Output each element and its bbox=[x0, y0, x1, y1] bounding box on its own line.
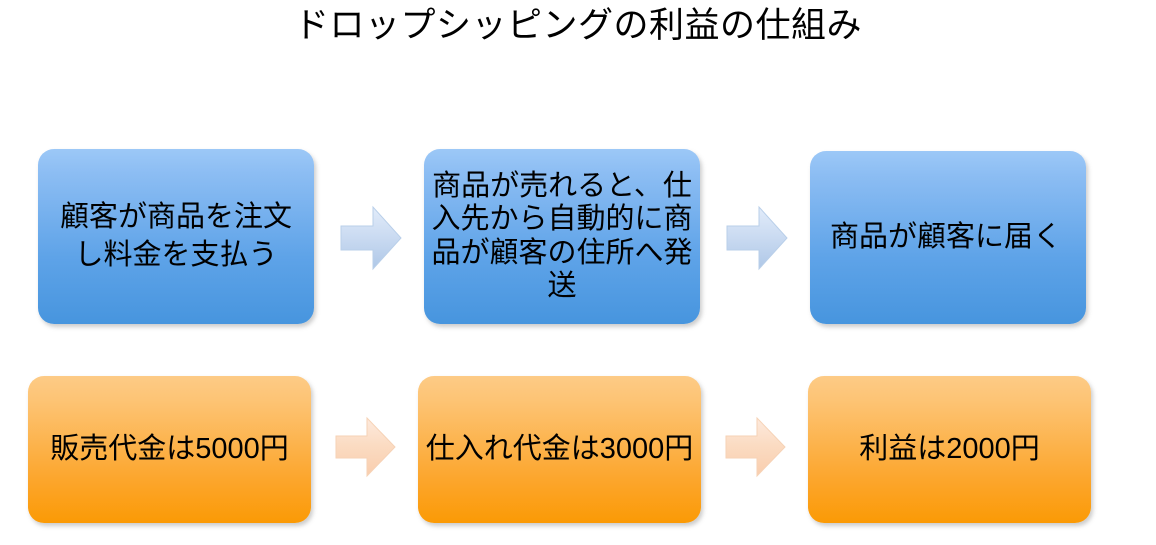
amount-1-label: 販売代金は5000円 bbox=[28, 431, 311, 469]
process-step-1-label: 顧客が商品を注文し料金を支払う bbox=[38, 199, 314, 274]
process-step-box-1[interactable]: 顧客が商品を注文し料金を支払う bbox=[38, 149, 314, 324]
amount-3-label: 利益は2000円 bbox=[808, 431, 1091, 469]
arrow-right-icon-3 bbox=[335, 416, 397, 478]
process-step-3-label: 商品が顧客に届く bbox=[810, 219, 1086, 257]
process-step-box-2[interactable]: 商品が売れると、仕入先から自動的に商品が顧客の住所へ発送 bbox=[424, 149, 700, 324]
amount-box-1[interactable]: 販売代金は5000円 bbox=[28, 376, 311, 523]
arrow-right-icon-4 bbox=[725, 416, 787, 478]
process-step-box-3[interactable]: 商品が顧客に届く bbox=[810, 151, 1086, 324]
process-step-2-label: 商品が売れると、仕入先から自動的に商品が顧客の住所へ発送 bbox=[424, 170, 700, 302]
amount-box-3[interactable]: 利益は2000円 bbox=[808, 376, 1091, 523]
arrow-right-icon-1 bbox=[340, 205, 402, 271]
arrow-right-icon-2 bbox=[726, 205, 788, 271]
diagram-canvas: ドロップシッピングの利益の仕組み 顧客が商品を注文し料金を支払う 商品が売れると… bbox=[0, 0, 1156, 545]
page-title: ドロップシッピングの利益の仕組み bbox=[0, 4, 1156, 48]
amount-box-2[interactable]: 仕入れ代金は3000円 bbox=[418, 376, 701, 523]
amount-2-label: 仕入れ代金は3000円 bbox=[418, 431, 701, 469]
